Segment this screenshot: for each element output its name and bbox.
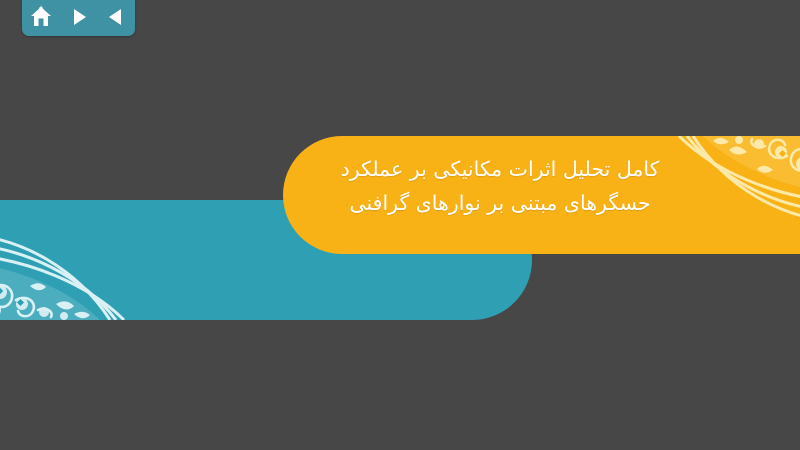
previous-slide-button[interactable] bbox=[103, 4, 129, 30]
home-icon bbox=[30, 6, 52, 28]
teal-arabesque-ornament-icon bbox=[0, 200, 160, 320]
next-slide-button[interactable] bbox=[66, 4, 92, 30]
home-button[interactable] bbox=[28, 4, 54, 30]
orange-title-band bbox=[283, 136, 800, 254]
slide-navigation-bar[interactable] bbox=[22, 0, 135, 36]
triangle-left-icon bbox=[106, 7, 126, 27]
slide-canvas: کامل تحلیل اثرات مکانیکی بر عملکرد حسگره… bbox=[0, 0, 800, 450]
triangle-right-icon bbox=[69, 7, 89, 27]
orange-arabesque-ornament-icon bbox=[663, 136, 800, 254]
